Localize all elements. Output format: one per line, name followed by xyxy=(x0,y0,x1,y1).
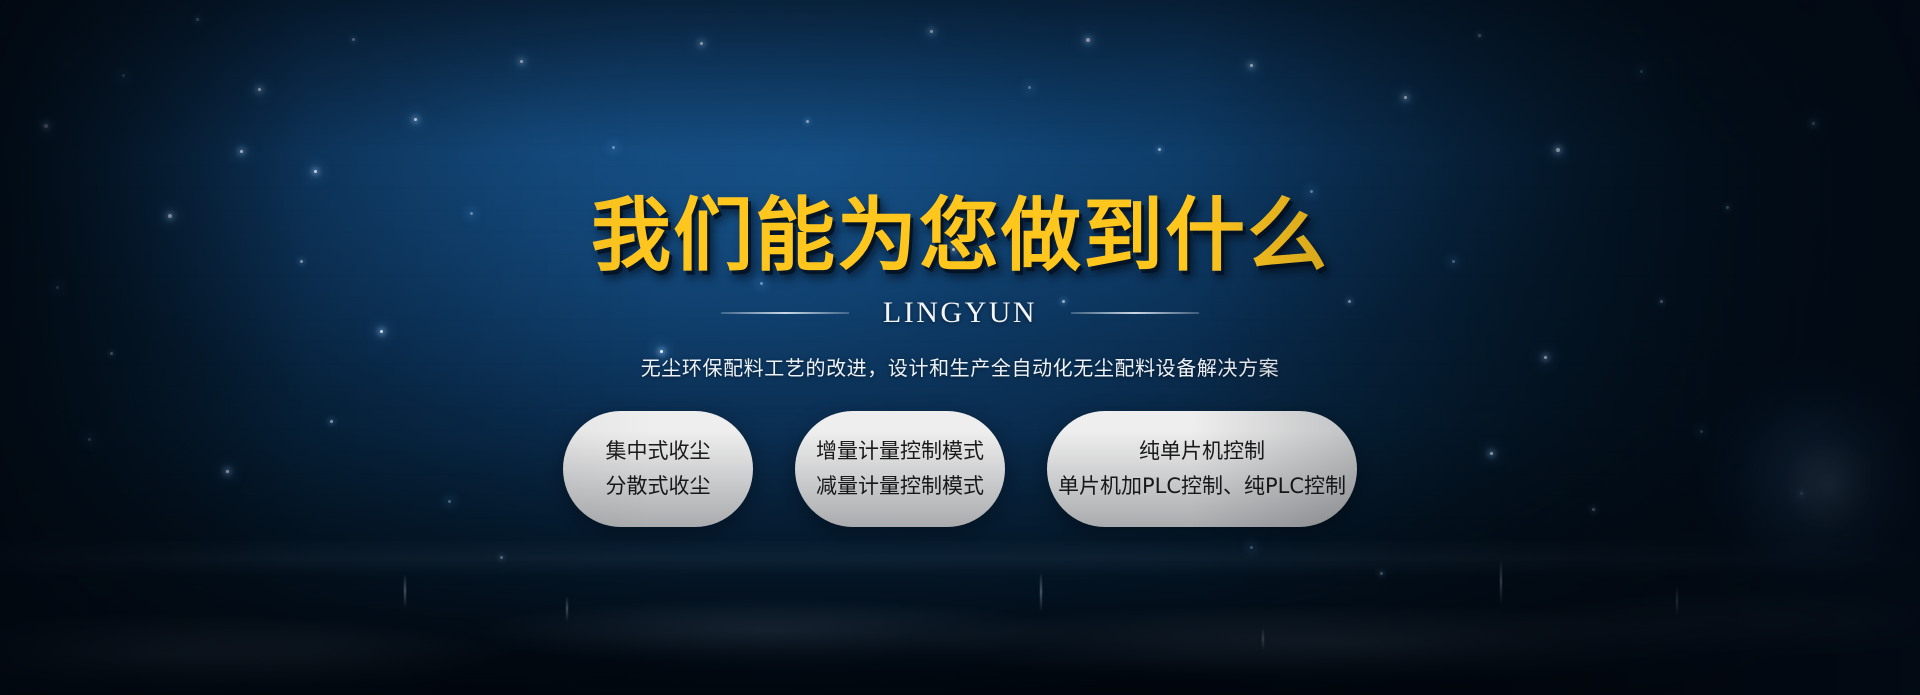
hero-banner: 我们能为您做到什么 LINGYUN 无尘环保配料工艺的改进，设计和生产全自动化无… xyxy=(0,0,1920,695)
edge-vignette xyxy=(0,0,1920,695)
